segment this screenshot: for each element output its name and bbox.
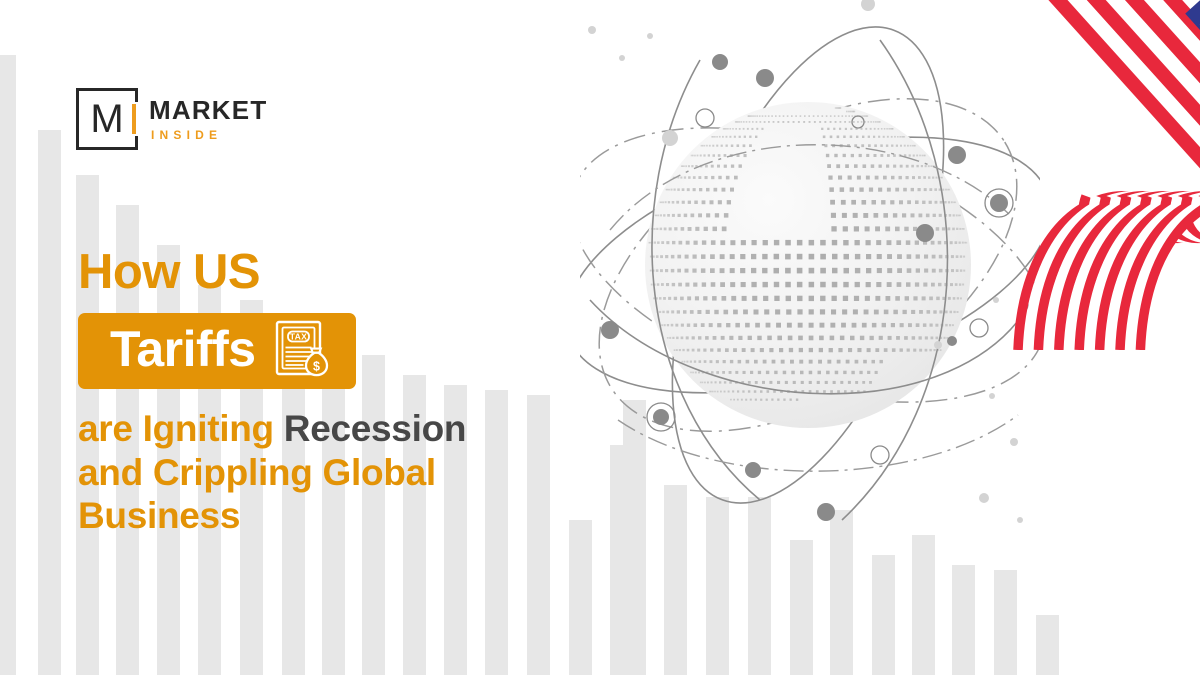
headline-line-3: are Igniting Recession xyxy=(78,407,638,451)
headline-line-4: and Crippling Global xyxy=(78,451,638,495)
svg-text:TAX: TAX xyxy=(289,332,306,342)
dotted-world-globe-icon xyxy=(580,0,1040,560)
tax-document-money-bag-icon: TAX $ xyxy=(272,318,334,380)
logomark-letter: M xyxy=(76,88,138,150)
headline-line-3-dark: Recession xyxy=(284,408,466,449)
logomark-accent-bar xyxy=(132,104,136,134)
tariffs-highlight-band: Tariffs TAX $ xyxy=(78,313,356,389)
united-states-waving-flag-icon xyxy=(1000,0,1200,350)
chart-bar xyxy=(872,555,895,675)
square-m-logomark: M xyxy=(76,88,138,150)
poster-canvas: M MARKET INSIDE How US Tariffs TAX xyxy=(0,0,1200,675)
headline-block: How US Tariffs TAX xyxy=(78,248,638,538)
headline-line-1: How US xyxy=(78,248,638,297)
headline-line-3-orange: are Igniting xyxy=(78,408,284,449)
chart-bar xyxy=(0,55,16,675)
brand-wordmark: MARKET INSIDE xyxy=(149,97,267,141)
brand-logo[interactable]: M MARKET INSIDE xyxy=(76,88,267,150)
chart-bar xyxy=(994,570,1017,675)
headline-line-5: Business xyxy=(78,494,638,538)
brand-name: MARKET xyxy=(149,97,267,123)
headline-highlight-word: Tariffs xyxy=(110,320,256,379)
svg-text:$: $ xyxy=(313,359,320,373)
chart-bar xyxy=(790,540,813,675)
chart-bar xyxy=(1036,615,1059,675)
brand-tagline: INSIDE xyxy=(151,129,267,141)
chart-bar xyxy=(952,565,975,675)
chart-bar xyxy=(38,130,61,675)
